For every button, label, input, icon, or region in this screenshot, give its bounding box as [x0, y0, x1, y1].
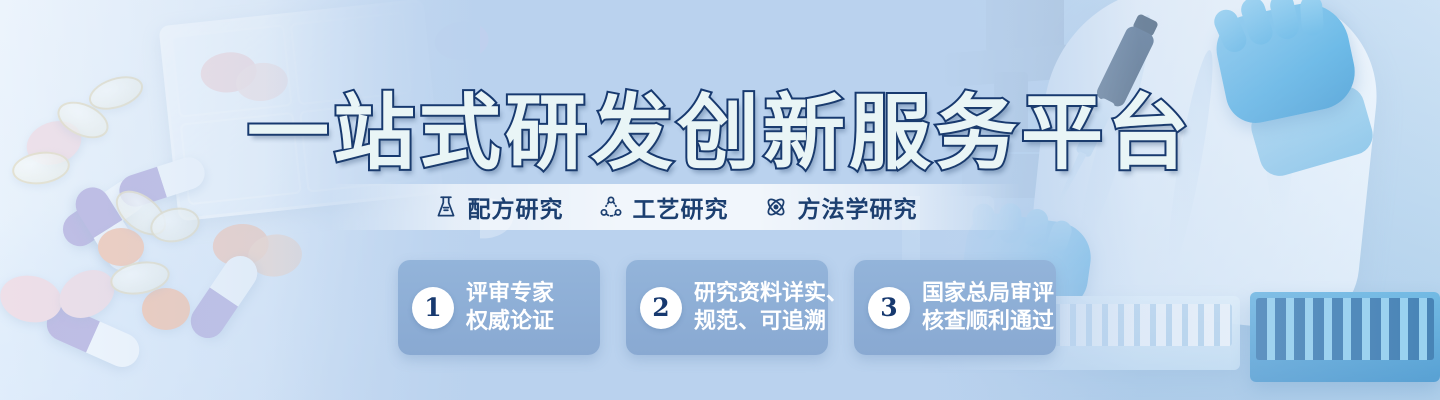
card-text: 国家总局审评 核查顺利通过 [922, 280, 1054, 336]
service-item-process[interactable]: 工艺研究 [598, 190, 729, 224]
feature-card-2[interactable]: 2 研究资料详实、 规范、可追溯 [626, 260, 828, 355]
flask-icon [433, 194, 459, 220]
promo-banner: 一站式研发创新服务平台 配方研究 [0, 0, 1440, 400]
banner-title: 一站式研发创新服务平台 [0, 66, 1440, 185]
service-label: 方法学研究 [798, 190, 918, 224]
card-line-2: 权威论证 [466, 308, 554, 335]
atom-icon [763, 194, 789, 220]
card-text: 研究资料详实、 规范、可追溯 [694, 280, 848, 336]
card-line-1: 国家总局审评 [922, 280, 1054, 307]
card-line-2: 规范、可追溯 [694, 308, 848, 335]
card-text: 评审专家 权威论证 [466, 280, 554, 336]
banner-content: 一站式研发创新服务平台 配方研究 [0, 0, 1440, 400]
feature-cards: 1 评审专家 权威论证 2 研究资料详实、 规范、可追溯 3 国家总局审评 核查… [398, 260, 1056, 355]
service-label: 工艺研究 [633, 190, 729, 224]
feature-card-1[interactable]: 1 评审专家 权威论证 [398, 260, 600, 355]
feature-card-3[interactable]: 3 国家总局审评 核查顺利通过 [854, 260, 1056, 355]
service-item-methodology[interactable]: 方法学研究 [763, 190, 918, 224]
card-number-badge: 3 [868, 287, 910, 329]
card-line-1: 研究资料详实、 [694, 280, 848, 307]
services-row: 配方研究 工艺研究 [330, 184, 1020, 230]
card-line-2: 核查顺利通过 [922, 308, 1054, 335]
card-number-badge: 2 [640, 287, 682, 329]
card-number-badge: 1 [412, 287, 454, 329]
service-item-formulation[interactable]: 配方研究 [433, 190, 564, 224]
card-line-1: 评审专家 [466, 280, 554, 307]
service-label: 配方研究 [468, 190, 564, 224]
molecule-icon [598, 194, 624, 220]
